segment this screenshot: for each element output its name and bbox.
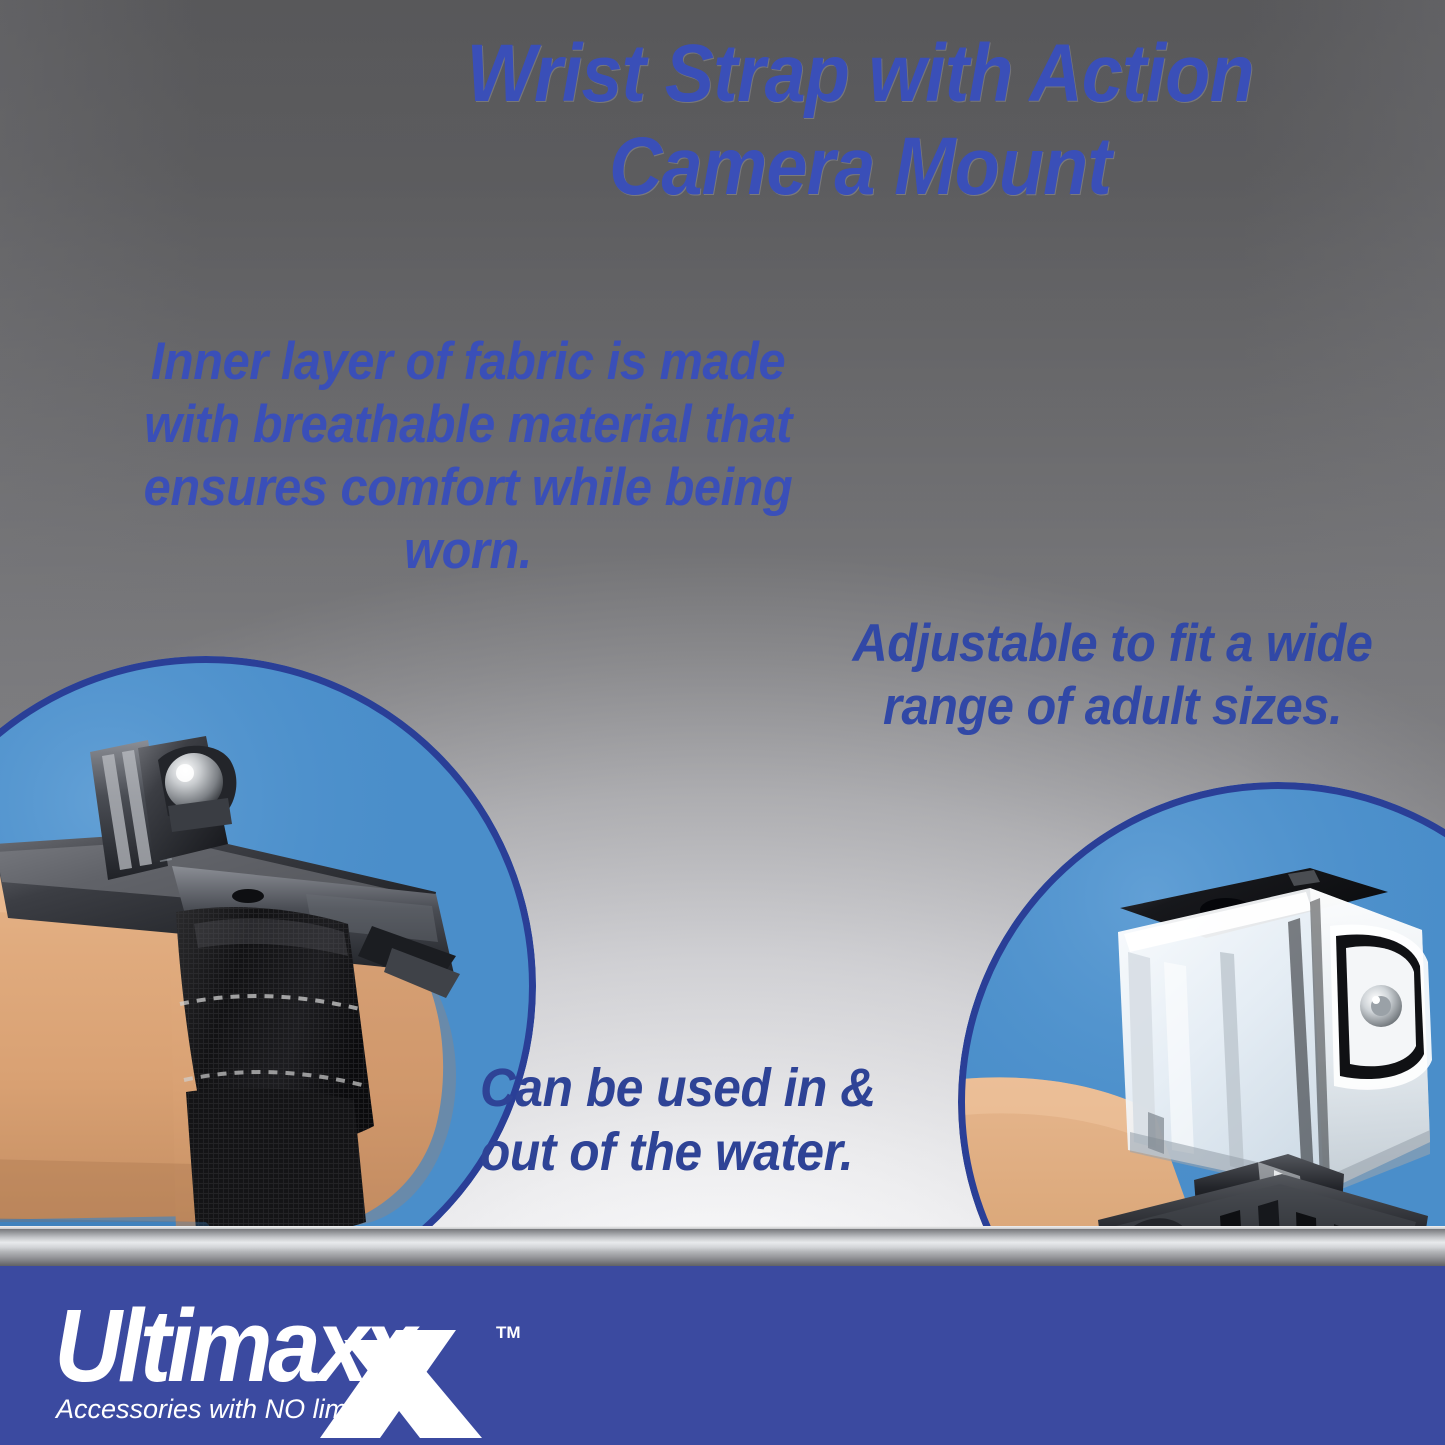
metallic-divider-bar	[0, 1228, 1445, 1266]
logo-tagline: Accessories with NO limits	[54, 1394, 374, 1424]
brand-logo: Ultimaxx TM Accessories with NO limits	[44, 1278, 564, 1438]
feature-text-adjustable: Adjustable to fit a wide range of adult …	[820, 612, 1404, 738]
divider-highlight-line	[0, 1226, 1445, 1229]
page-title-line-1: Wrist Strap with Action	[356, 28, 1364, 121]
product-photo-circle-left	[0, 656, 536, 1316]
wrist-strap-mount-illustration	[0, 656, 536, 1316]
feature-text-water: Can be used in & out of the water.	[480, 1056, 912, 1185]
page-title-line-2: Camera Mount	[356, 121, 1364, 214]
logo-trademark: TM	[496, 1323, 521, 1342]
page-title: Wrist Strap with Action Camera Mount	[356, 28, 1364, 213]
infographic-canvas: Wrist Strap with Action Camera Mount Inn…	[0, 0, 1445, 1445]
logo-wordmark: Ultimaxx	[54, 1288, 421, 1403]
feature-text-inner-layer: Inner layer of fabric is made with breat…	[100, 330, 836, 582]
